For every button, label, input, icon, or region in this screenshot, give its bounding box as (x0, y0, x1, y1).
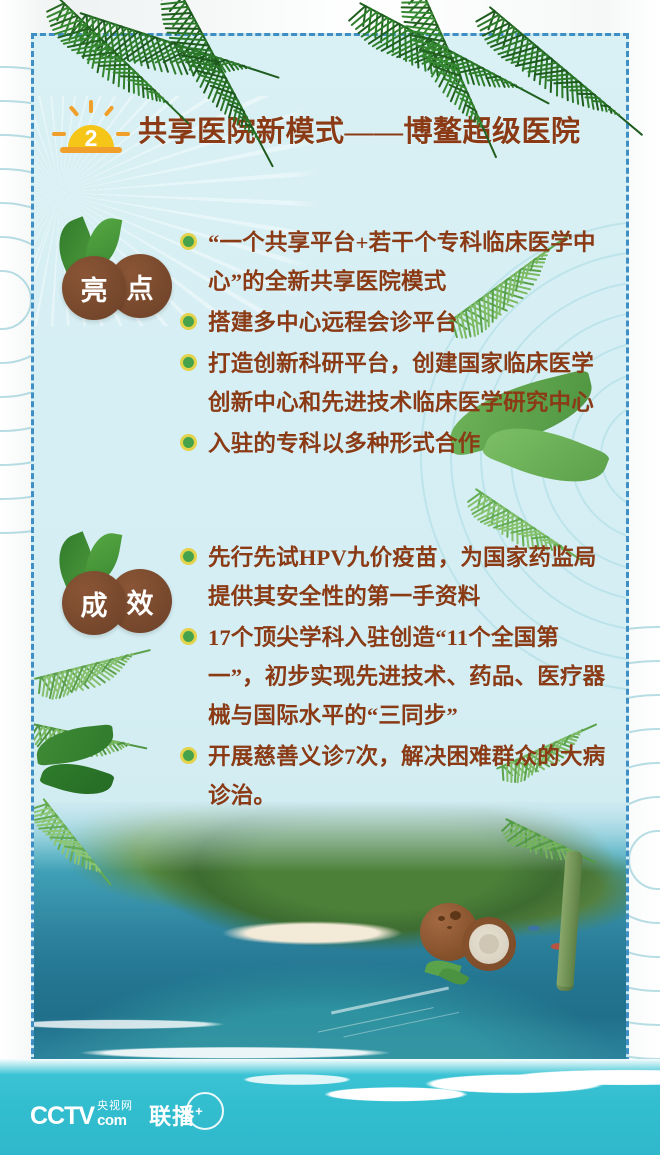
cctv-wordmark: CCTV (30, 1104, 94, 1129)
bullet-dot-icon (180, 548, 197, 565)
bullet-text: 17个顶尖学科入驻创造“11个全国第一”，初步实现先进技术、药品、医疗器械与国际… (208, 618, 610, 735)
section-results: 效 成 先行先试HPV九价疫苗，为国家药监局提供其安全性的第一手资料 17个顶尖… (52, 536, 610, 817)
badge-char-1: 成 (62, 571, 126, 635)
coconut-icon (420, 901, 516, 975)
bullet-dot-icon (180, 313, 197, 330)
bullet-dot-icon (180, 628, 197, 645)
poster-root: 2 共享医院新模式——博鳌超级医院 点 亮 “一个共享平台+若干个专科临床医学中… (0, 0, 660, 1155)
bullet-dot-icon (180, 434, 197, 451)
list-item: 先行先试HPV九价疫苗，为国家药监局提供其安全性的第一手资料 (180, 538, 610, 616)
list-item: 入驻的专科以多种形式合作 (180, 424, 610, 463)
cctv-logo[interactable]: CCTV 央视网 com (30, 1101, 133, 1128)
coconut-flesh (469, 924, 509, 964)
section-highlights: 点 亮 “一个共享平台+若干个专科临床医学中心”的全新共享医院模式 搭建多中心远… (52, 221, 610, 465)
bullet-text: 开展慈善义诊7次，解决困难群众的大病诊治。 (208, 737, 610, 815)
list-item: 开展慈善义诊7次，解决困难群众的大病诊治。 (180, 737, 610, 815)
bullet-text: “一个共享平台+若干个专科临床医学中心”的全新共享医院模式 (208, 223, 610, 301)
lianbo-ring-icon (186, 1092, 224, 1130)
coconut-half-icon (462, 917, 516, 971)
badge-highlights: 点 亮 (52, 221, 180, 329)
list-item: 打造创新科研平台，创建国家临床医学创新中心和先进技术临床医学研究中心 (180, 344, 610, 422)
photo-pier (331, 986, 449, 1014)
bullet-text: 先行先试HPV九价疫苗，为国家药监局提供其安全性的第一手资料 (208, 538, 610, 616)
cctv-domain: com (97, 1113, 133, 1129)
bullet-dot-icon (180, 233, 197, 250)
bullet-list-results: 先行先试HPV九价疫苗，为国家药监局提供其安全性的第一手资料 17个顶尖学科入驻… (180, 536, 610, 817)
list-item: “一个共享平台+若干个专科临床医学中心”的全新共享医院模式 (180, 223, 610, 301)
list-item: 搭建多中心远程会诊平台 (180, 303, 610, 342)
bullet-text: 搭建多中心远程会诊平台 (208, 303, 458, 342)
bullet-dot-icon (180, 354, 197, 371)
badge-results: 效 成 (52, 536, 180, 644)
bullet-dot-icon (180, 747, 197, 764)
bullet-text: 打造创新科研平台，创建国家临床医学创新中心和先进技术临床医学研究中心 (208, 344, 610, 422)
palm-fronds-top-icon (60, 0, 580, 150)
footer-logos: CCTV 央视网 com 联播+ (30, 1097, 218, 1133)
lianbo-logo[interactable]: 联播+ (147, 1097, 218, 1133)
boao-island-aerial-photo (34, 802, 626, 1087)
bullet-text: 入驻的专科以多种形式合作 (208, 424, 480, 463)
badge-char-1: 亮 (62, 256, 126, 320)
list-item: 17个顶尖学科入驻创造“11个全国第一”，初步实现先进技术、药品、医疗器械与国际… (180, 618, 610, 735)
bullet-list-highlights: “一个共享平台+若干个专科临床医学中心”的全新共享医院模式 搭建多中心远程会诊平… (180, 221, 610, 465)
content-card: 2 共享医院新模式——博鳌超级医院 点 亮 “一个共享平台+若干个专科临床医学中… (31, 33, 629, 1090)
